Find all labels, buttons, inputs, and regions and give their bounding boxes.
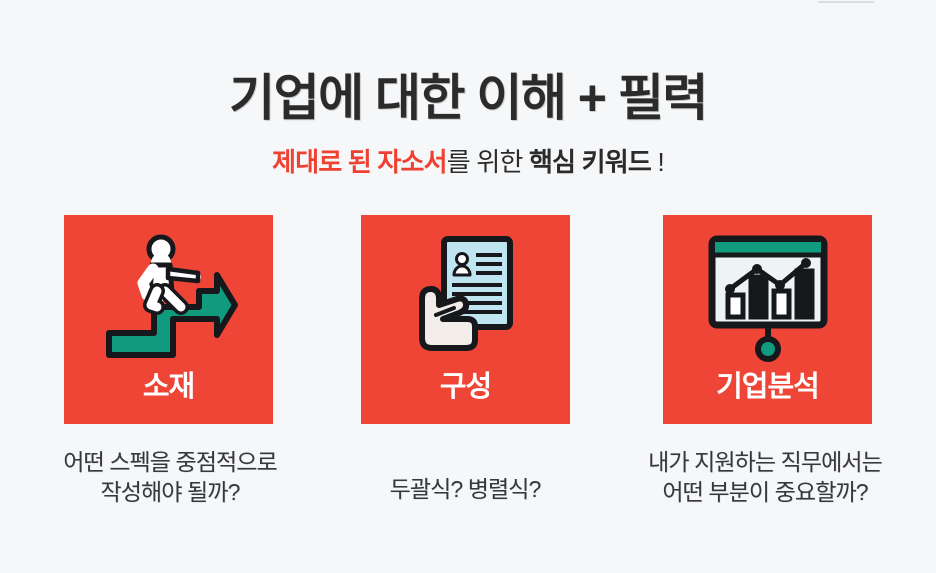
caption-line: 작성해야 될까? [10,477,330,507]
hand-holding-resume-document-icon [396,231,536,366]
card-label-sojae: 소재 [143,372,194,404]
caption-line: 어떤 스펙을 중점적으로 [10,447,330,477]
card-label-guseong: 구성 [440,372,491,404]
card-gieopbunseok[interactable]: 기업분석 [663,215,872,424]
card-row: 소재 [0,215,936,425]
slide-canvas: 기업에 대한 이해 + 필력 제대로 된 자소서를 위한 핵심 키워드 ! [0,0,936,573]
caption-line: 두괄식? 병렬식? [320,474,610,504]
person-climbing-stairs-arrow-icon [99,231,239,366]
card-guseong[interactable]: 구성 [361,215,570,424]
caption-gieopbunseok: 내가 지원하는 직무에서는 어떤 부분이 중요할까? [600,447,930,508]
subtitle-highlight: 제대로 된 자소서 [272,147,447,177]
caption-guseong: 두괄식? 병렬식? [320,474,610,504]
caption-line: 어떤 부분이 중요할까? [600,477,930,507]
card-label-gieopbunseok: 기업분석 [716,372,819,404]
card-sojae[interactable]: 소재 [64,215,273,424]
caption-line: 내가 지원하는 직무에서는 [600,447,930,477]
presentation-chart-board-icon [698,231,838,366]
subtitle-exclamation: ! [651,147,664,177]
subtitle-connector: 를 위한 [447,147,529,177]
top-divider-line [818,1,874,3]
page-title: 기업에 대한 이해 + 필력 [0,58,936,130]
subtitle-keyword: 핵심 키워드 [529,147,651,177]
page-subtitle: 제대로 된 자소서를 위한 핵심 키워드 ! [0,142,936,179]
caption-sojae: 어떤 스펙을 중점적으로 작성해야 될까? [10,447,330,508]
